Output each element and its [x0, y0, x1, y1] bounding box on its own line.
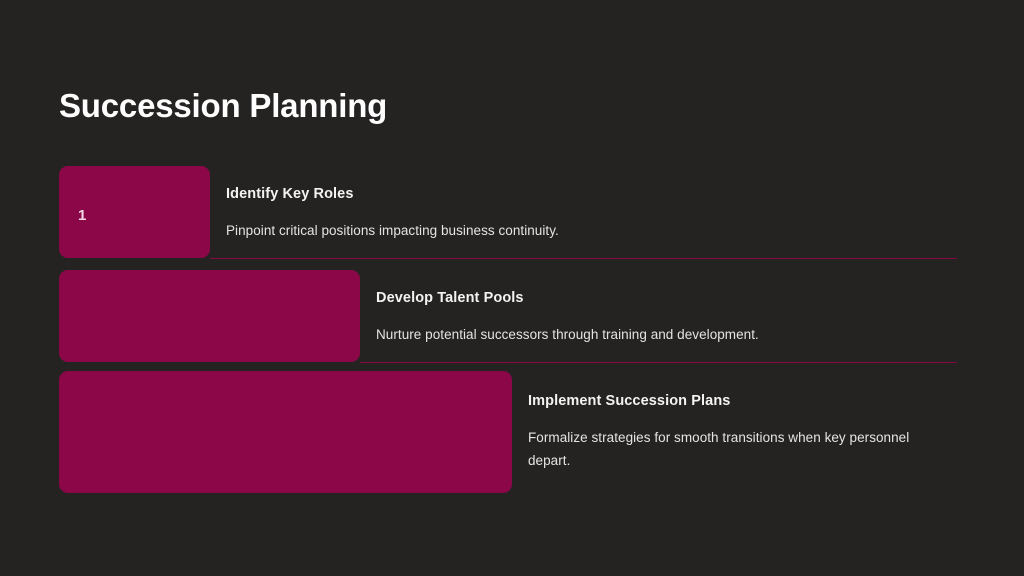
step-text-1: Identify Key Roles Pinpoint critical pos…: [226, 185, 926, 242]
step-description-1: Pinpoint critical positions impacting bu…: [226, 219, 926, 242]
slide-canvas: Succession Planning 1 Identify Key Roles…: [0, 0, 1024, 576]
step-bar-3[interactable]: 3: [59, 371, 512, 493]
page-title: Succession Planning: [59, 86, 387, 126]
row-divider-1: [210, 258, 957, 259]
step-text-3: Implement Succession Plans Formalize str…: [528, 392, 948, 473]
step-text-2: Develop Talent Pools Nurture potential s…: [376, 289, 976, 346]
step-description-2: Nurture potential successors through tra…: [376, 323, 976, 346]
step-number-1: 1: [78, 208, 86, 223]
step-bar-2[interactable]: 2: [59, 270, 360, 362]
step-heading-3: Implement Succession Plans: [528, 392, 948, 410]
step-description-3: Formalize strategies for smooth transiti…: [528, 426, 948, 472]
step-heading-2: Develop Talent Pools: [376, 289, 976, 307]
row-divider-2: [360, 362, 957, 363]
step-heading-1: Identify Key Roles: [226, 185, 926, 203]
step-bar-1[interactable]: 1: [59, 166, 210, 258]
